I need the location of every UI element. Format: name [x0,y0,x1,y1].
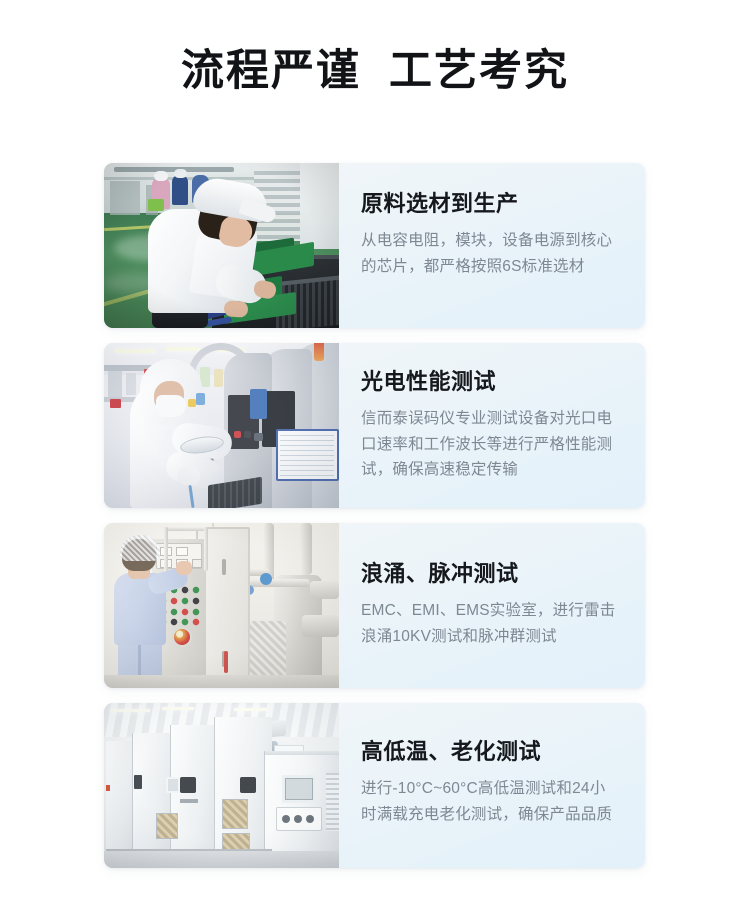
process-text-raw-material: 原料选材到生产 从电容电阻，模块，设备电源到核心的芯片，都严格按照6S标准选材 [339,163,645,328]
page-root: 流程严谨 工艺考究 [0,0,750,900]
process-photo-optical-electrical-test [104,343,339,508]
process-text-temperature-aging-test: 高低温、老化测试 进行-10°C~60°C高低温测试和24小时满载充电老化测试，… [339,703,645,868]
process-text-surge-pulse-test: 浪涌、脉冲测试 EMC、EMI、EMS实验室，进行雷击浪涌10KV测试和脉冲群测… [339,523,645,688]
card-heading: 浪涌、脉冲测试 [361,561,621,587]
process-card-temperature-aging-test[interactable]: 高低温、老化测试 进行-10°C~60°C高低温测试和24小时满载充电老化测试，… [104,703,645,868]
card-heading: 原料选材到生产 [361,191,621,217]
process-text-optical-electrical-test: 光电性能测试 信而泰误码仪专业测试设备对光口电口速率和工作波长等进行严格性能测试… [339,343,645,508]
process-photo-raw-material [104,163,339,328]
page-title: 流程严谨 工艺考究 [0,47,750,96]
card-heading: 光电性能测试 [361,369,621,395]
card-description: EMC、EMI、EMS实验室，进行雷击浪涌10KV测试和脉冲群测试 [361,598,621,648]
process-photo-temperature-aging-test [104,703,339,868]
process-card-list: 原料选材到生产 从电容电阻，模块，设备电源到核心的芯片，都严格按照6S标准选材 [104,163,645,868]
process-photo-surge-pulse-test [104,523,339,688]
process-card-surge-pulse-test[interactable]: 浪涌、脉冲测试 EMC、EMI、EMS实验室，进行雷击浪涌10KV测试和脉冲群测… [104,523,645,688]
process-card-optical-electrical-test[interactable]: 光电性能测试 信而泰误码仪专业测试设备对光口电口速率和工作波长等进行严格性能测试… [104,343,645,508]
card-description: 信而泰误码仪专业测试设备对光口电口速率和工作波长等进行严格性能测试，确保高速稳定… [361,406,621,481]
process-card-raw-material[interactable]: 原料选材到生产 从电容电阻，模块，设备电源到核心的芯片，都严格按照6S标准选材 [104,163,645,328]
card-description: 从电容电阻，模块，设备电源到核心的芯片，都严格按照6S标准选材 [361,228,621,278]
card-description: 进行-10°C~60°C高低温测试和24小时满载充电老化测试，确保产品品质 [361,776,621,826]
card-heading: 高低温、老化测试 [361,739,621,765]
